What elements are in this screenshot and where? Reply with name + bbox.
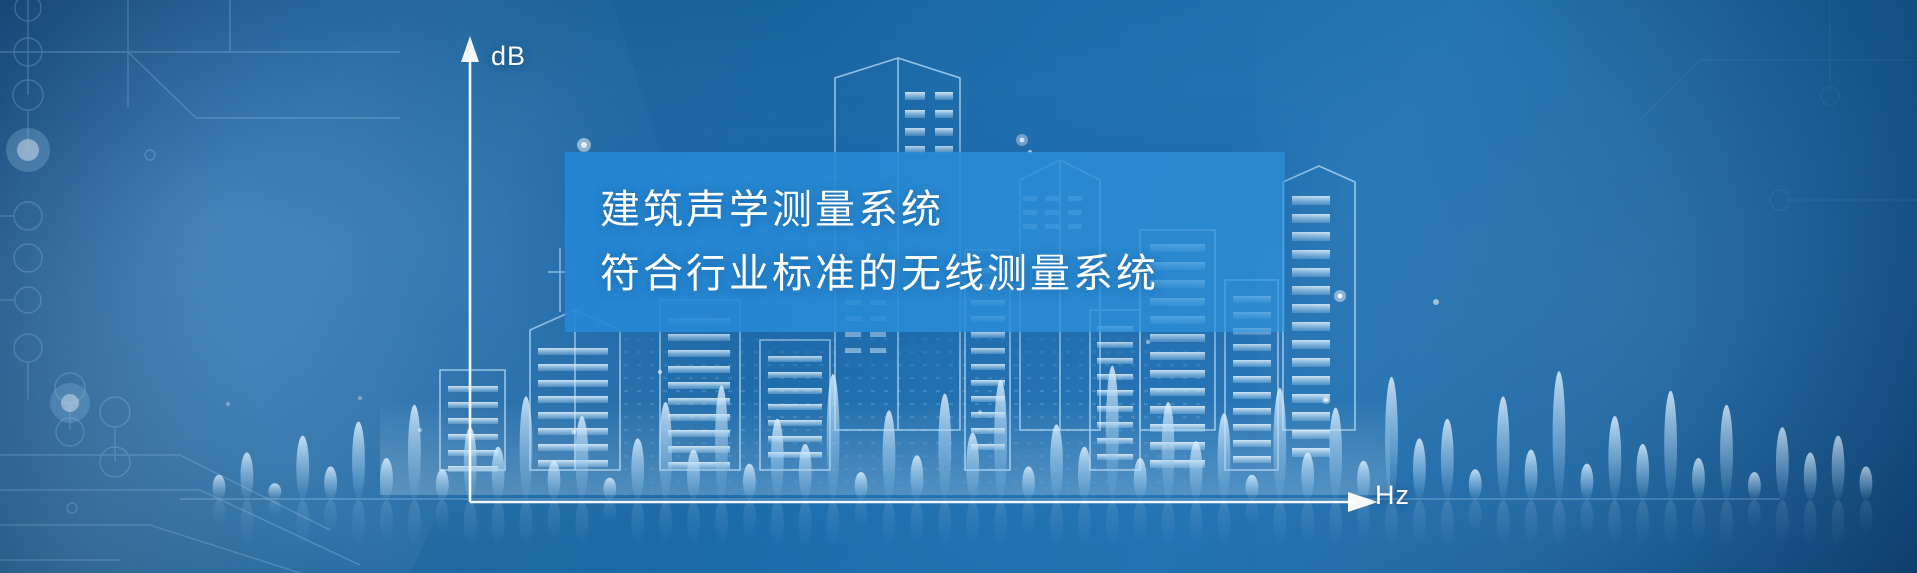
x-axis-label: Hz [1375,480,1410,511]
acoustic-banner: 建筑声学测量系统 符合行业标准的无线测量系统 dB Hz [0,0,1917,573]
headline-block: 建筑声学测量系统 符合行业标准的无线测量系统 [598,152,1358,332]
page-subtitle: 符合行业标准的无线测量系统 [600,253,1358,295]
page-title: 建筑声学测量系统 [600,189,1358,231]
y-axis-label: dB [491,41,526,72]
